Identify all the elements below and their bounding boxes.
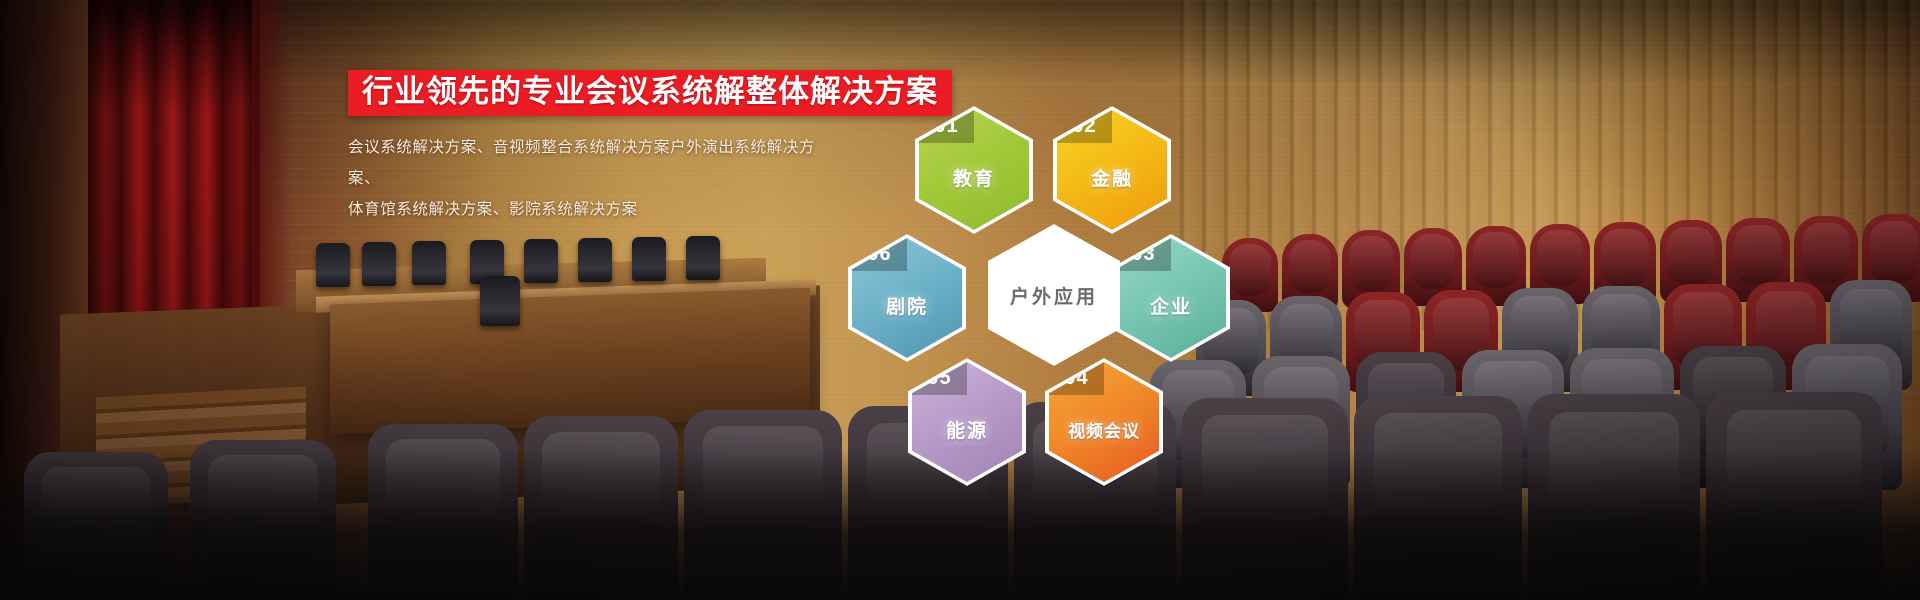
hexagon-number: 03: [1116, 238, 1171, 271]
hexagon-item-05-energy[interactable]: 05 能源: [908, 358, 1026, 486]
hexagon-number: 02: [1057, 110, 1112, 143]
hexagon-item-01-education[interactable]: 01 教育: [915, 106, 1033, 234]
hexagon-item-03-enterprise[interactable]: 03 企业: [1112, 234, 1230, 362]
hexagon-label: 剧院: [886, 292, 928, 319]
hexagon-cluster: 01 教育 02 金融 03 企业 04 视频会议: [840, 100, 1260, 480]
hexagon-center-outdoor-application[interactable]: 户外应用: [988, 224, 1120, 366]
hexagon-number: 05: [912, 362, 967, 395]
hexagon-face: 户外应用: [992, 228, 1116, 362]
hexagon-number: 01: [919, 110, 974, 143]
hero-subtitle-line-1: 会议系统解决方案、音视频整合系统解决方案户外演出系统解决方案、: [348, 132, 818, 194]
hero-subtitle: 会议系统解决方案、音视频整合系统解决方案户外演出系统解决方案、 体育馆系统解决方…: [348, 132, 818, 225]
hexagon-number: 06: [852, 238, 907, 271]
hexagon-item-06-theater[interactable]: 06 剧院: [848, 234, 966, 362]
hexagon-item-02-finance[interactable]: 02 金融: [1053, 106, 1171, 234]
hexagon-label: 视频会议: [1068, 417, 1140, 442]
hero-banner: 行业领先的专业会议系统解整体解决方案 会议系统解决方案、音视频整合系统解决方案户…: [0, 0, 1920, 600]
hexagon-center-label: 户外应用: [1010, 282, 1098, 309]
hexagon-label: 教育: [953, 164, 995, 191]
hero-subtitle-line-2: 体育馆系统解决方案、影院系统解决方案: [348, 194, 818, 225]
hexagon-item-04-video-conference[interactable]: 04 视频会议: [1045, 358, 1163, 486]
hexagon-label: 金融: [1091, 164, 1133, 191]
hexagon-number: 04: [1049, 362, 1104, 395]
hexagon-label: 能源: [946, 416, 988, 443]
hexagon-label: 企业: [1150, 292, 1192, 319]
